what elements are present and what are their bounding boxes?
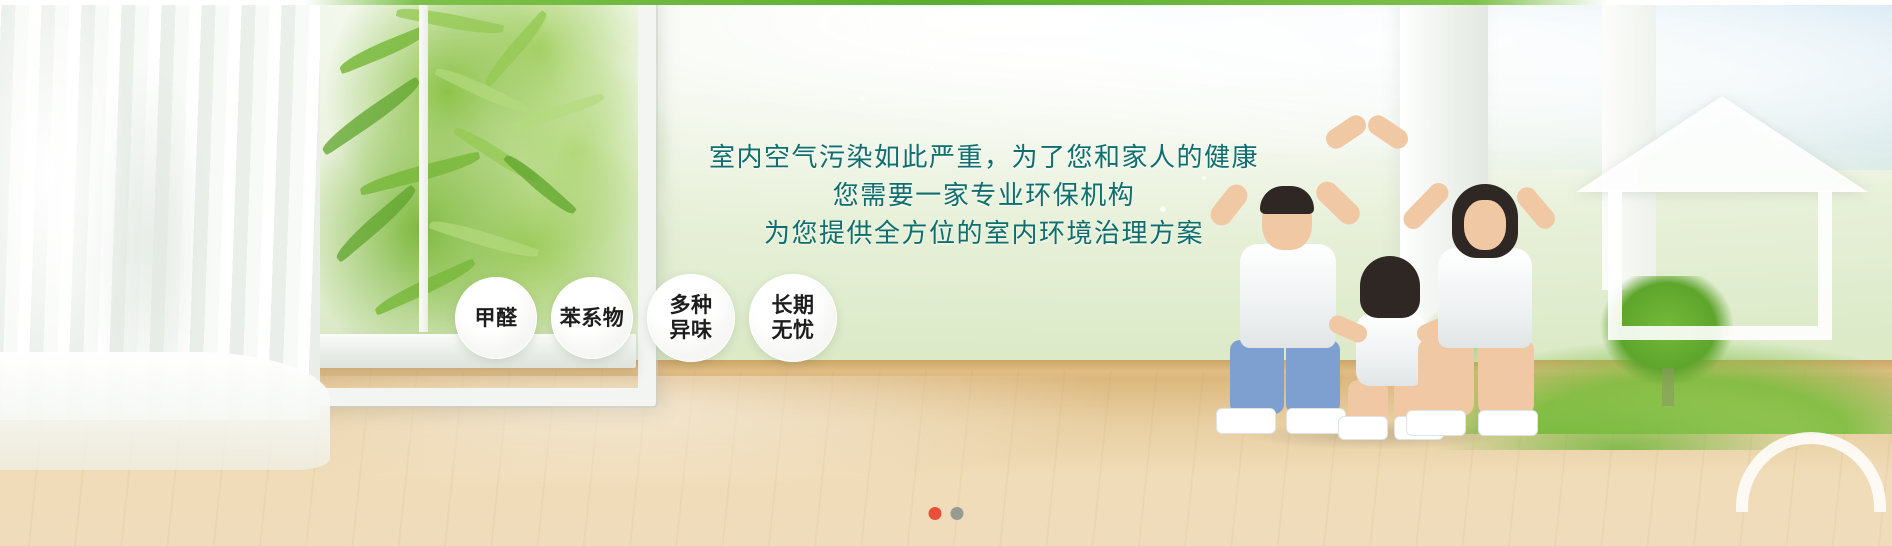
tree-trunk [1662, 368, 1674, 406]
carousel-dot-2[interactable] [951, 507, 964, 520]
badge-longterm[interactable]: 长期 无忧 [749, 274, 837, 362]
top-accent-rule [0, 0, 1892, 5]
badge-odors[interactable]: 多种 异味 [647, 274, 735, 362]
house-roof-icon [1576, 96, 1868, 192]
window-mullion [419, 2, 428, 332]
badge-benzene-line-1: 苯系物 [560, 306, 625, 331]
badge-odors-line-1: 多种 [670, 293, 713, 318]
badge-longterm-line-2: 无忧 [772, 318, 815, 343]
figure-mother [1394, 140, 1570, 440]
badge-formaldehyde-line-1: 甲醛 [475, 306, 518, 331]
badge-longterm-line-1: 长期 [772, 293, 815, 318]
house-outline-graphic [1568, 96, 1868, 348]
house-body-outline [1608, 190, 1832, 340]
curtain-hem [0, 352, 330, 470]
badge-benzene[interactable]: 苯系物 [551, 277, 633, 359]
feature-badge-group: 甲醛 苯系物 多种 异味 长期 无忧 [455, 272, 915, 364]
family-photo-figures [1174, 116, 1578, 446]
hero-banner: 室内空气污染如此严重，为了您和家人的健康 您需要一家专业环保机构 为您提供全方位… [0, 0, 1892, 546]
badge-formaldehyde[interactable]: 甲醛 [455, 277, 537, 359]
badge-odors-line-2: 异味 [670, 318, 713, 343]
carousel-dots [929, 507, 964, 520]
carousel-dot-1[interactable] [929, 507, 942, 520]
